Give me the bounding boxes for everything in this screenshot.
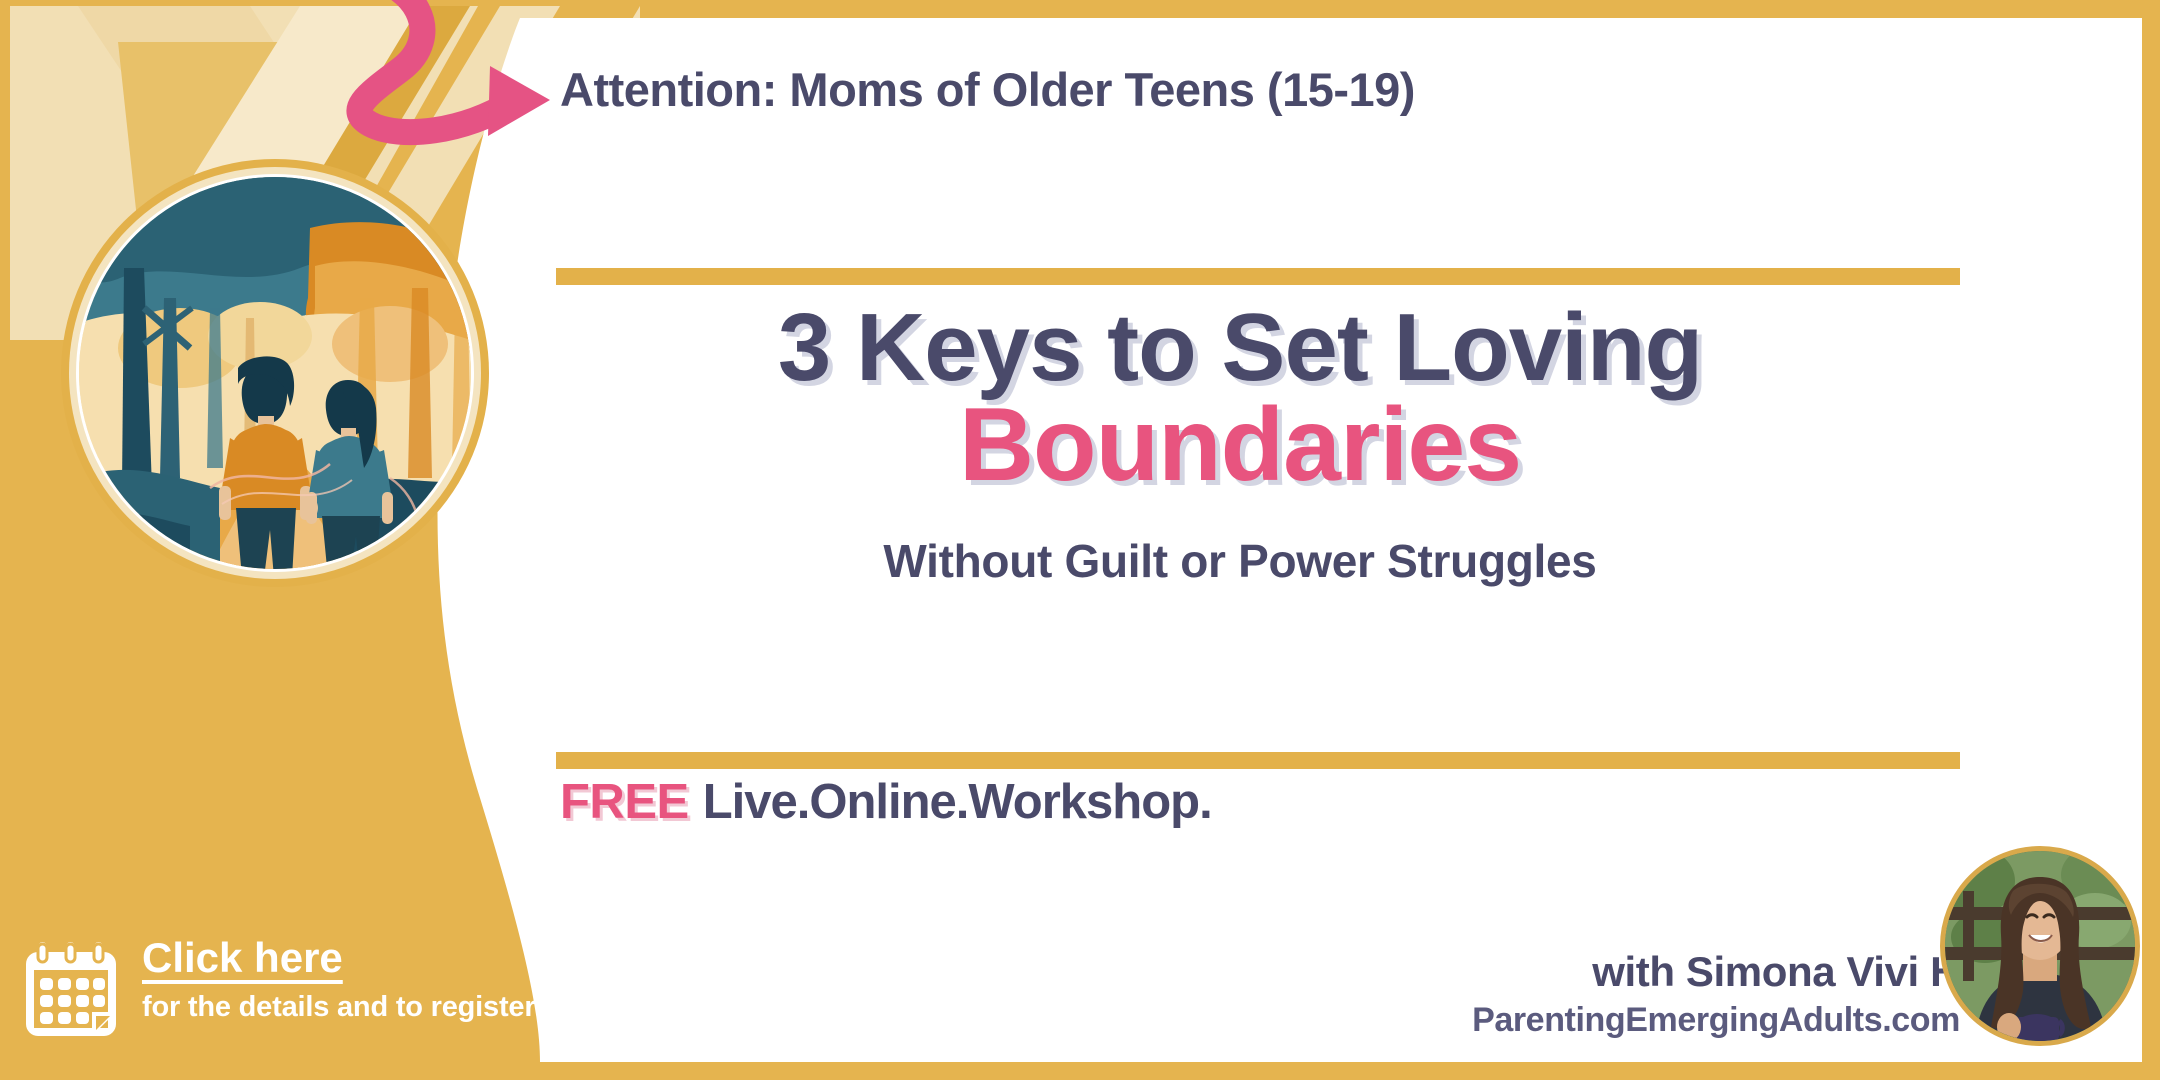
cta-main-label[interactable]: Click here (142, 936, 535, 980)
promo-banner: Attention: Moms of Older Teens (15-19) 3… (0, 0, 2160, 1080)
cta-sub-label: for the details and to register (142, 991, 535, 1024)
title-line-1: 3 Keys to Set Loving (510, 300, 1970, 396)
divider-top (556, 268, 1960, 285)
calendar-icon (22, 940, 120, 1040)
title-subtitle: Without Guilt or Power Struggles (510, 534, 1970, 588)
author-block: with Simona Vivi H ParentingEmergingAdul… (1472, 948, 1960, 1040)
title-line-2: Boundaries (510, 392, 1970, 498)
workshop-format-line: FREELive.Online.Workshop. (560, 774, 1212, 830)
author-website[interactable]: ParentingEmergingAdults.com (1472, 1001, 1960, 1040)
free-badge: FREE (560, 775, 689, 829)
avatar (1940, 846, 2140, 1046)
author-name: with Simona Vivi H (1472, 948, 1960, 996)
divider-bottom (556, 752, 1960, 769)
format-text: Live.Online.Workshop. (703, 775, 1212, 829)
title-block: 3 Keys to Set Loving Boundaries Without … (510, 300, 1970, 588)
register-cta[interactable]: Click here for the details and to regist… (22, 936, 535, 1040)
forest-illustration (60, 158, 490, 588)
attention-headline: Attention: Moms of Older Teens (15-19) (560, 62, 1415, 117)
curved-arrow-icon (250, 0, 610, 162)
